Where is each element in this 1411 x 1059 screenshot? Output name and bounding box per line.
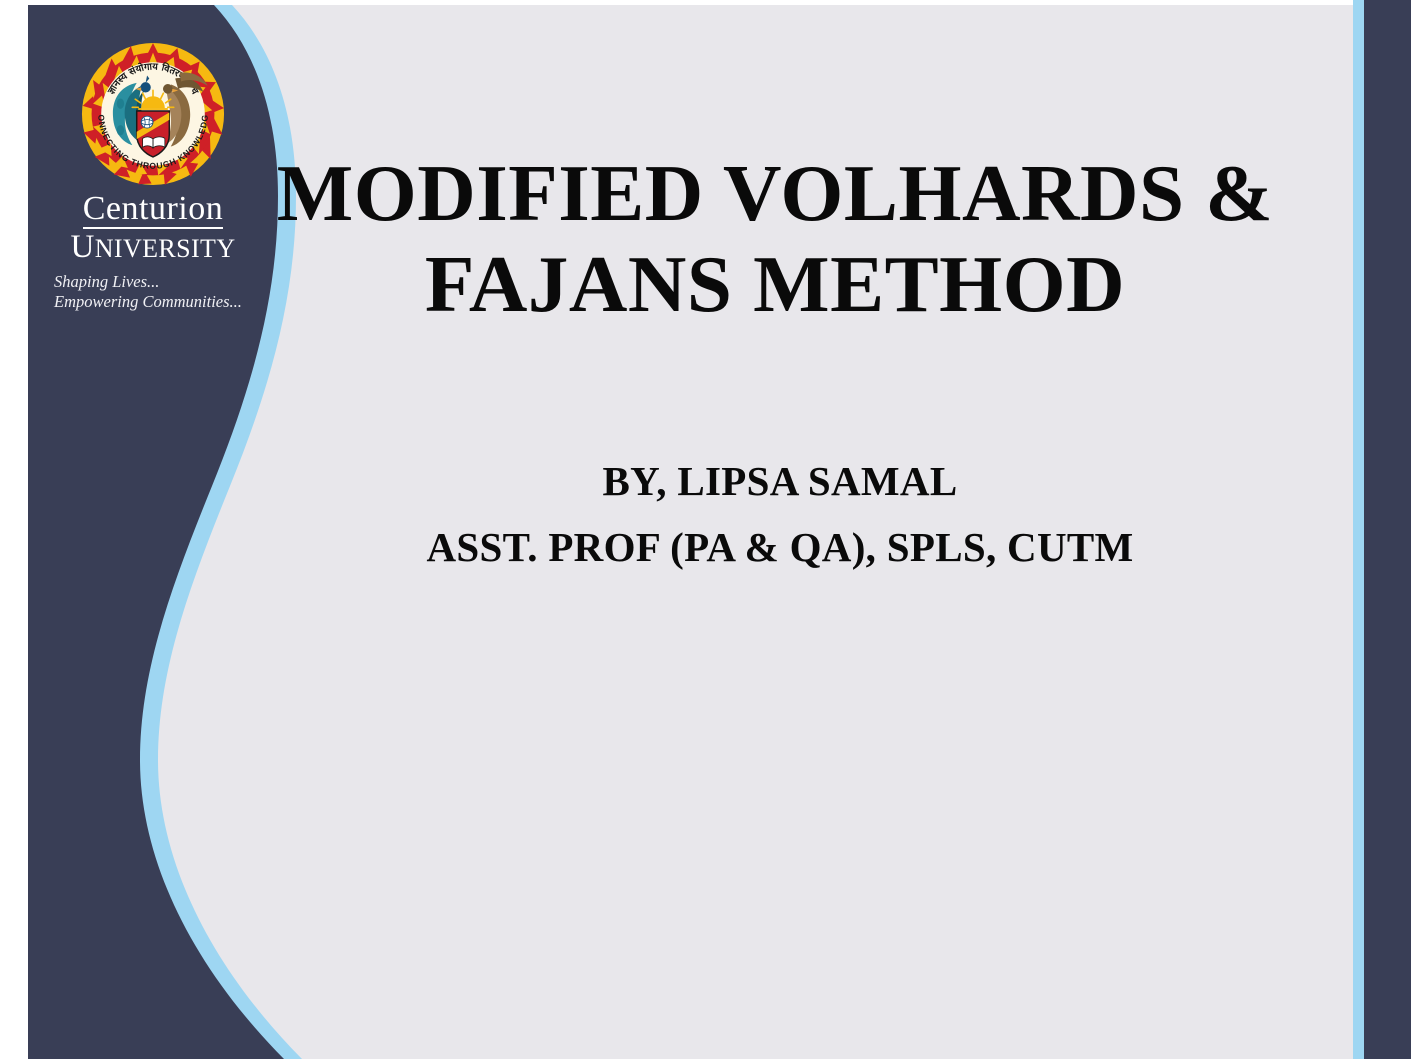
wordmark-centurion-text: Centurion xyxy=(83,192,223,229)
wordmark-university-initial: U xyxy=(70,229,94,265)
wordmark-centurion: Centurion xyxy=(48,192,258,229)
wordmark-university-rest: NIVERSITY xyxy=(95,234,236,263)
subtitle-author-block: BY, LIPSA SAMAL ASST. PROF (PA & QA), SP… xyxy=(300,448,1260,581)
logo-tagline: Shaping Lives... Empowering Communities.… xyxy=(48,272,258,312)
tagline-line-1: Shaping Lives... xyxy=(54,272,258,292)
author-name: BY, LIPSA SAMAL xyxy=(300,448,1260,514)
university-logo-block: ज्ञानस्य संयोगाय वितरणाय च xyxy=(48,40,258,313)
title-line-1: MODIFIED VOLHARDS & xyxy=(270,148,1280,239)
right-blue-accent-band xyxy=(1353,0,1364,1059)
author-designation: ASST. PROF (PA & QA), SPLS, CUTM xyxy=(300,514,1260,580)
right-navy-accent-band xyxy=(1364,0,1411,1059)
university-crest-emblem: ज्ञानस्य संयोगाय वितरणाय च xyxy=(79,40,227,188)
presentation-slide: ज्ञानस्य संयोगाय वितरणाय च xyxy=(0,0,1411,1059)
tagline-line-2: Empowering Communities... xyxy=(54,292,258,312)
page-title: MODIFIED VOLHARDS & FAJANS METHOD xyxy=(270,148,1280,329)
title-line-2: FAJANS METHOD xyxy=(270,239,1280,330)
wordmark-university: UNIVERSITY xyxy=(48,231,258,264)
